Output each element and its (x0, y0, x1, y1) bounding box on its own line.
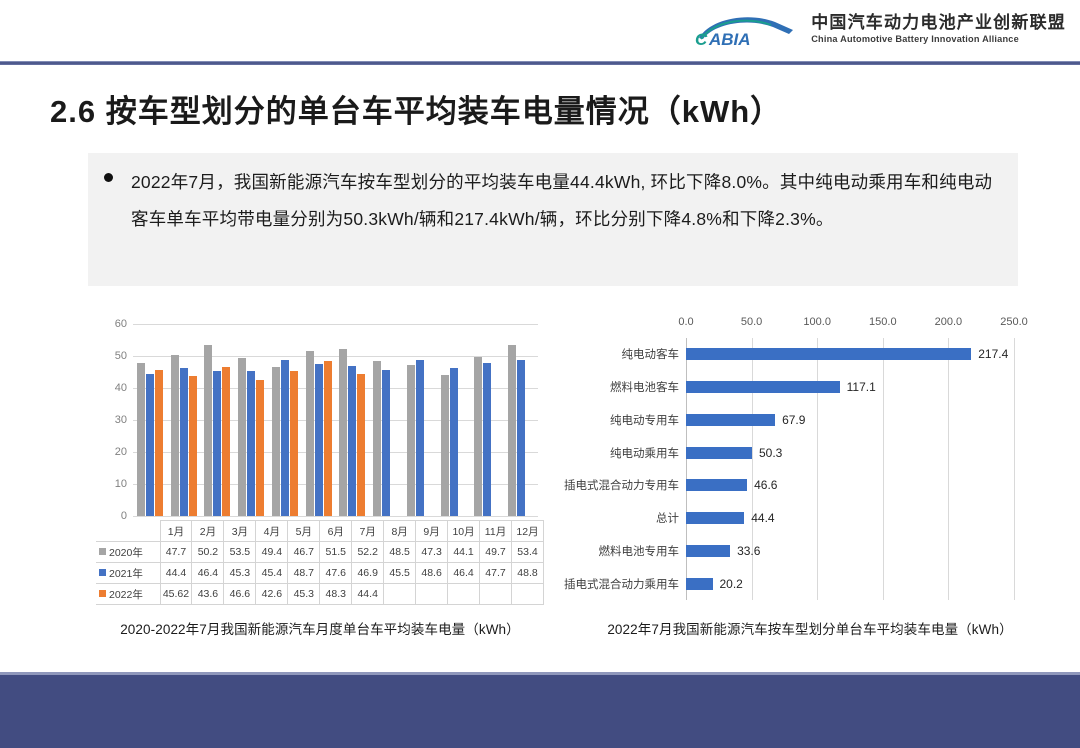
left-chart-bar (324, 361, 332, 516)
left-chart-bar (281, 360, 289, 516)
left-chart-bar-group (234, 324, 268, 516)
table-column-header: 2月 (192, 521, 224, 542)
left-chart-bar (180, 368, 188, 516)
right-chart-bar-row: 总计44.4 (686, 502, 1014, 535)
left-chart-bar (306, 351, 314, 516)
table-cell: 49.7 (480, 542, 512, 563)
right-chart-value-label: 46.6 (754, 478, 777, 492)
left-chart-bar (407, 365, 415, 516)
left-chart-y-tick: 50 (115, 350, 127, 362)
left-chart-bar (474, 357, 482, 516)
left-chart-bar (517, 360, 525, 516)
table-cell: 43.6 (192, 584, 224, 605)
left-chart-bar (247, 371, 255, 516)
right-chart-x-tick: 50.0 (741, 316, 762, 328)
left-chart-bar (189, 376, 197, 516)
left-chart-bar-group (268, 324, 302, 516)
right-chart-category-label: 纯电动专用车 (610, 412, 679, 428)
table-cell: 48.8 (511, 563, 543, 584)
right-chart-gridline (1014, 338, 1015, 600)
right-chart-x-tick: 100.0 (803, 316, 831, 328)
left-chart-data-table: 1月2月3月4月5月6月7月8月9月10月11月12月2020年47.750.2… (96, 520, 544, 605)
left-chart-gridline: 0 (133, 516, 538, 517)
table-cell: 53.5 (224, 542, 256, 563)
left-chart-bar (137, 363, 145, 516)
footer-band (0, 675, 1080, 748)
table-column-header: 1月 (160, 521, 192, 542)
table-row-header: 2021年 (96, 563, 160, 584)
right-chart-value-label: 117.1 (847, 380, 876, 394)
table-cell: 51.5 (320, 542, 352, 563)
left-chart-bar-group (471, 324, 505, 516)
left-chart-bar-group (403, 324, 437, 516)
right-chart-x-tick: 250.0 (1000, 316, 1028, 328)
right-chart-bar-row: 纯电动客车217.4 (686, 338, 1014, 371)
right-chart-x-axis: 0.050.0100.0150.0200.0250.0 (686, 316, 1014, 332)
table-cell: 52.2 (352, 542, 384, 563)
table-cell: 50.2 (192, 542, 224, 563)
table-cell: 48.3 (320, 584, 352, 605)
right-chart-bar (686, 479, 747, 491)
org-name-cn: 中国汽车动力电池产业创新联盟 (811, 14, 1066, 33)
left-chart-bar-group (201, 324, 235, 516)
right-chart-category-label: 燃料电池专用车 (599, 543, 680, 559)
table-cell: 44.4 (352, 584, 384, 605)
right-chart-caption: 2022年7月我国新能源汽车按车型划分单台车平均装车电量（kWh） (585, 618, 1035, 638)
org-name-en: China Automotive Battery Innovation Alli… (811, 34, 1066, 44)
left-chart-bar (238, 358, 246, 516)
left-chart-bar (204, 345, 212, 516)
left-chart-y-tick: 10 (115, 478, 127, 490)
left-chart-bar (213, 371, 221, 516)
table-cell: 42.6 (256, 584, 288, 605)
monthly-grouped-bar-chart: 0102030405060 1月2月3月4月5月6月7月8月9月10月11月12… (96, 316, 544, 608)
left-chart-y-tick: 30 (115, 414, 127, 426)
table-column-header: 10月 (448, 521, 480, 542)
table-cell: 46.4 (448, 563, 480, 584)
left-chart-bar-group (369, 324, 403, 516)
table-column-header: 12月 (511, 521, 543, 542)
table-cell: 48.6 (416, 563, 448, 584)
table-cell: 47.7 (480, 563, 512, 584)
left-chart-bars (133, 324, 538, 516)
right-chart-bar-row: 插电式混合动力乘用车20.2 (686, 567, 1014, 600)
table-cell (416, 584, 448, 605)
right-chart-value-label: 20.2 (720, 577, 743, 591)
left-chart-bar (290, 371, 298, 516)
right-chart-category-label: 纯电动客车 (622, 346, 680, 362)
table-cell: 48.7 (288, 563, 320, 584)
table-cell: 48.5 (384, 542, 416, 563)
left-chart-y-tick: 40 (115, 382, 127, 394)
table-corner-cell (96, 521, 160, 542)
right-chart-bar-row: 纯电动乘用车50.3 (686, 436, 1014, 469)
left-chart-bar-group (167, 324, 201, 516)
right-chart-value-label: 217.4 (978, 347, 1008, 361)
table-row-header: 2022年 (96, 584, 160, 605)
summary-text: 2022年7月，我国新能源汽车按车型划分的平均装车电量44.4kWh, 环比下降… (131, 164, 1004, 238)
right-chart-bar (686, 512, 744, 524)
table-cell (480, 584, 512, 605)
bullet-icon (104, 173, 113, 182)
right-chart-x-tick: 150.0 (869, 316, 897, 328)
right-chart-bar (686, 447, 752, 459)
left-chart-bar (416, 360, 424, 516)
left-chart-bar (357, 374, 365, 516)
left-chart-bar (272, 367, 280, 516)
right-chart-category-label: 插电式混合动力专用车 (564, 477, 679, 493)
table-row: 2021年44.446.445.345.448.747.646.945.548.… (96, 563, 544, 584)
legend-swatch-icon (99, 569, 106, 576)
table-cell: 47.6 (320, 563, 352, 584)
right-chart-bar (686, 578, 713, 590)
left-chart-bar (315, 364, 323, 516)
table-column-header: 3月 (224, 521, 256, 542)
right-chart-value-label: 50.3 (759, 446, 782, 460)
right-chart-bar-row: 燃料电池专用车33.6 (686, 535, 1014, 568)
svg-text:C: C (695, 30, 708, 49)
right-chart-category-label: 插电式混合动力乘用车 (564, 576, 679, 592)
right-chart-bar (686, 381, 840, 393)
header-divider (0, 61, 1080, 65)
table-cell: 46.4 (192, 563, 224, 584)
left-chart-bar (441, 375, 449, 516)
right-chart-plot-area: 纯电动客车217.4燃料电池客车117.1纯电动专用车67.9纯电动乘用车50.… (686, 338, 1014, 600)
table-cell: 46.6 (224, 584, 256, 605)
right-chart-bar (686, 545, 730, 557)
legend-swatch-icon (99, 590, 106, 597)
table-column-header: 9月 (416, 521, 448, 542)
legend-label: 2022年 (109, 589, 143, 601)
right-chart-x-tick: 200.0 (935, 316, 963, 328)
left-chart-bar-group (302, 324, 336, 516)
left-chart-caption: 2020-2022年7月我国新能源汽车月度单台车平均装车电量（kWh） (96, 618, 544, 638)
table-row: 2022年45.6243.646.642.645.348.344.4 (96, 584, 544, 605)
page-title: 2.6 按车型划分的单台车平均装车电量情况（kWh） (50, 86, 782, 131)
right-chart-value-label: 44.4 (751, 511, 774, 525)
table-cell: 44.1 (448, 542, 480, 563)
right-chart-category-label: 总计 (656, 510, 679, 526)
table-cell: 47.3 (416, 542, 448, 563)
right-chart-bars: 纯电动客车217.4燃料电池客车117.1纯电动专用车67.9纯电动乘用车50.… (686, 338, 1014, 600)
table-column-header: 6月 (320, 521, 352, 542)
left-chart-bar (146, 374, 154, 516)
right-chart-x-tick: 0.0 (678, 316, 693, 328)
left-chart-bar (256, 380, 264, 516)
right-chart-bar (686, 414, 775, 426)
right-chart-bar-row: 纯电动专用车67.9 (686, 404, 1014, 437)
left-chart-bar-group (336, 324, 370, 516)
table-column-header: 7月 (352, 521, 384, 542)
left-chart-bar (155, 370, 163, 516)
left-chart-bar (483, 363, 491, 516)
brand-text: 中国汽车动力电池产业创新联盟 China Automotive Battery … (811, 14, 1066, 45)
table-cell: 44.4 (160, 563, 192, 584)
right-chart-bar (686, 348, 971, 360)
svg-text:ABIA: ABIA (708, 30, 751, 49)
table-cell: 45.4 (256, 563, 288, 584)
table-cell (384, 584, 416, 605)
left-chart-bar (339, 349, 347, 516)
left-chart-bar (382, 370, 390, 516)
left-chart-plot-area: 0102030405060 (133, 324, 538, 516)
left-chart-bar (508, 345, 516, 516)
left-chart-bar (222, 367, 230, 516)
right-chart-category-label: 燃料电池客车 (610, 379, 679, 395)
brand-logo: C ABIA 中国汽车动力电池产业创新联盟 China Automotive B… (689, 8, 1066, 50)
table-cell: 46.7 (288, 542, 320, 563)
table-row: 2020年47.750.253.549.446.751.552.248.547.… (96, 542, 544, 563)
left-chart-y-tick: 60 (115, 318, 127, 330)
summary-paragraph: 2022年7月，我国新能源汽车按车型划分的平均装车电量44.4kWh, 环比下降… (104, 164, 1004, 238)
right-chart-category-label: 纯电动乘用车 (610, 445, 679, 461)
cabia-logo-icon: C ABIA (689, 8, 801, 50)
legend-swatch-icon (99, 548, 106, 555)
table-cell (511, 584, 543, 605)
left-chart-bar-group (133, 324, 167, 516)
right-chart-bar-row: 燃料电池客车117.1 (686, 371, 1014, 404)
table-cell: 46.9 (352, 563, 384, 584)
table-cell: 45.5 (384, 563, 416, 584)
table-cell: 47.7 (160, 542, 192, 563)
table-column-header: 4月 (256, 521, 288, 542)
table-cell: 45.3 (224, 563, 256, 584)
left-chart-bar-group (437, 324, 471, 516)
table-row: 1月2月3月4月5月6月7月8月9月10月11月12月 (96, 521, 544, 542)
left-chart-bar (171, 355, 179, 516)
table-column-header: 11月 (480, 521, 512, 542)
table-column-header: 5月 (288, 521, 320, 542)
table-cell: 49.4 (256, 542, 288, 563)
table-cell: 53.4 (511, 542, 543, 563)
left-chart-bar (348, 366, 356, 516)
table-cell: 45.62 (160, 584, 192, 605)
right-chart-bar-row: 插电式混合动力专用车46.6 (686, 469, 1014, 502)
right-chart-value-label: 33.6 (737, 544, 760, 558)
table-cell: 45.3 (288, 584, 320, 605)
slide: C ABIA 中国汽车动力电池产业创新联盟 China Automotive B… (0, 0, 1080, 748)
left-chart-bar (450, 368, 458, 516)
left-chart-y-tick: 20 (115, 446, 127, 458)
legend-label: 2021年 (109, 568, 143, 580)
table-row-header: 2020年 (96, 542, 160, 563)
vehicle-type-bar-chart: 0.050.0100.0150.0200.0250.0 纯电动客车217.4燃料… (600, 316, 1020, 608)
left-chart-bar-group (504, 324, 538, 516)
legend-label: 2020年 (109, 547, 143, 559)
table-cell (448, 584, 480, 605)
right-chart-value-label: 67.9 (782, 413, 805, 427)
left-chart-bar (373, 361, 381, 516)
table-column-header: 8月 (384, 521, 416, 542)
